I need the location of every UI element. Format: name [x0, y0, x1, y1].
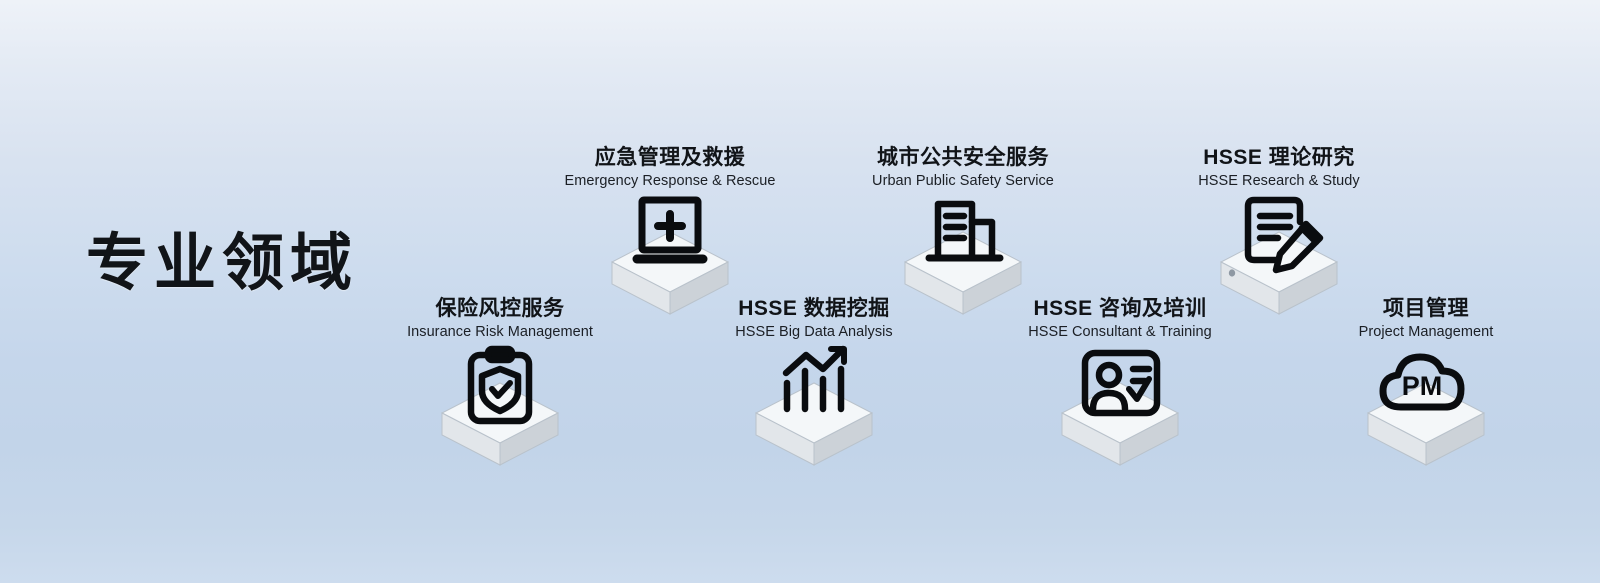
infographic-canvas: 专业领域 应急管理及救援 Emergency Response & Rescue [0, 0, 1600, 583]
category-label-cn: 保险风控服务 [370, 296, 630, 321]
category-artwork [684, 347, 944, 465]
category-item-hsse-consultant-training[interactable]: HSSE 咨询及培训 HSSE Consultant & Training [990, 296, 1250, 465]
category-label-en: Insurance Risk Management [370, 323, 630, 341]
category-label-en: Urban Public Safety Service [833, 172, 1093, 190]
category-label-en: HSSE Research & Study [1149, 172, 1409, 190]
category-item-insurance-risk-management[interactable]: 保险风控服务 Insurance Risk Management [370, 296, 630, 465]
category-label-cn: 项目管理 [1296, 296, 1556, 321]
category-item-project-management[interactable]: 项目管理 Project Management PM [1296, 296, 1556, 465]
category-label-cn: HSSE 理论研究 [1149, 145, 1409, 170]
category-item-hsse-research-study[interactable]: HSSE 理论研究 HSSE Research & Study [1149, 145, 1409, 314]
category-label-cn: HSSE 数据挖掘 [684, 296, 944, 321]
category-label-en: HSSE Consultant & Training [990, 323, 1250, 341]
category-label-en: Project Management [1296, 323, 1556, 341]
category-label-cn: 应急管理及救援 [540, 145, 800, 170]
category-label-en: Emergency Response & Rescue [540, 172, 800, 190]
cloud-pm-label: PM [1402, 371, 1443, 401]
medical-monitor-plus-icon [637, 200, 703, 259]
page-title: 专业领域 [86, 228, 358, 299]
category-artwork: PM [1296, 347, 1556, 465]
category-artwork [370, 347, 630, 465]
category-item-emergency-response-rescue[interactable]: 应急管理及救援 Emergency Response & Rescue [540, 145, 800, 314]
category-label-cn: 城市公共安全服务 [833, 145, 1093, 170]
category-item-hsse-big-data-analysis[interactable]: HSSE 数据挖掘 HSSE Big Data Analysis [684, 296, 944, 465]
category-label-en: HSSE Big Data Analysis [684, 323, 944, 341]
category-item-urban-public-safety-service[interactable]: 城市公共安全服务 Urban Public Safety Service [833, 145, 1093, 314]
category-label-cn: HSSE 咨询及培训 [990, 296, 1250, 321]
category-artwork [990, 347, 1250, 465]
pedestal [756, 383, 872, 465]
